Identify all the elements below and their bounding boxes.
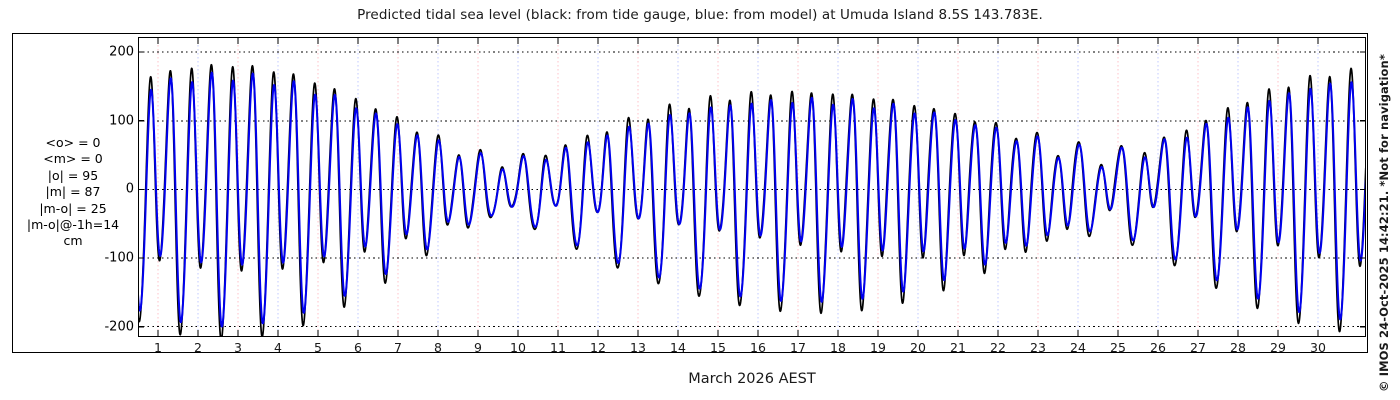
y-axis-tick-labels: 2001000-100-200 [90, 37, 134, 337]
x-axis-tick-label: 15 [710, 340, 726, 355]
tidal-chart-figure: Predicted tidal sea level (black: from t… [0, 0, 1400, 400]
x-axis-tick-label: 30 [1310, 340, 1326, 355]
y-axis-tick-label: -200 [104, 319, 134, 334]
x-axis-tick-label: 18 [830, 340, 846, 355]
x-axis-title: March 2026 AEST [138, 371, 1366, 387]
x-axis-tick-label: 19 [870, 340, 886, 355]
x-axis-tick-label: 8 [434, 340, 442, 355]
x-axis-tick-labels: 1234567891011121314151617181920212223242… [138, 340, 1366, 360]
x-axis-tick-label: 20 [910, 340, 926, 355]
x-axis-tick-label: 17 [790, 340, 806, 355]
x-axis-tick-label: 28 [1230, 340, 1246, 355]
x-axis-tick-label: 6 [354, 340, 362, 355]
x-axis-tick-label: 9 [474, 340, 482, 355]
copyright-text: © IMOS 24-Oct-2025 14:42:21. *Not for na… [1377, 54, 1391, 392]
x-axis-tick-label: 21 [950, 340, 966, 355]
x-axis-tick-label: 1 [154, 340, 162, 355]
x-axis-tick-label: 11 [550, 340, 566, 355]
x-axis-tick-label: 22 [990, 340, 1006, 355]
x-axis-tick-label: 2 [194, 340, 202, 355]
x-axis-tick-label: 3 [234, 340, 242, 355]
x-axis-tick-label: 27 [1190, 340, 1206, 355]
x-axis-tick-label: 29 [1270, 340, 1286, 355]
x-axis-tick-label: 7 [394, 340, 402, 355]
x-axis-tick-label: 23 [1030, 340, 1046, 355]
x-axis-tick-label: 5 [314, 340, 322, 355]
y-axis-tick-label: 100 [109, 113, 134, 128]
y-axis-tick-label: -100 [104, 251, 134, 266]
plot-area [138, 37, 1366, 337]
y-axis-tick-label: 200 [109, 45, 134, 60]
x-axis-tick-label: 25 [1110, 340, 1126, 355]
x-axis-tick-label: 26 [1150, 340, 1166, 355]
x-axis-tick-label: 4 [274, 340, 282, 355]
x-axis-tick-label: 10 [510, 340, 526, 355]
y-axis-tick-label: 0 [126, 182, 134, 197]
tidal-series-plot [138, 37, 1366, 337]
x-axis-tick-label: 14 [670, 340, 686, 355]
x-axis-tick-label: 13 [630, 340, 646, 355]
chart-title: Predicted tidal sea level (black: from t… [0, 7, 1400, 23]
x-axis-tick-label: 16 [750, 340, 766, 355]
x-axis-tick-label: 12 [590, 340, 606, 355]
copyright-notice: © IMOS 24-Oct-2025 14:42:21. *Not for na… [1377, 0, 1395, 400]
x-axis-tick-label: 24 [1070, 340, 1086, 355]
